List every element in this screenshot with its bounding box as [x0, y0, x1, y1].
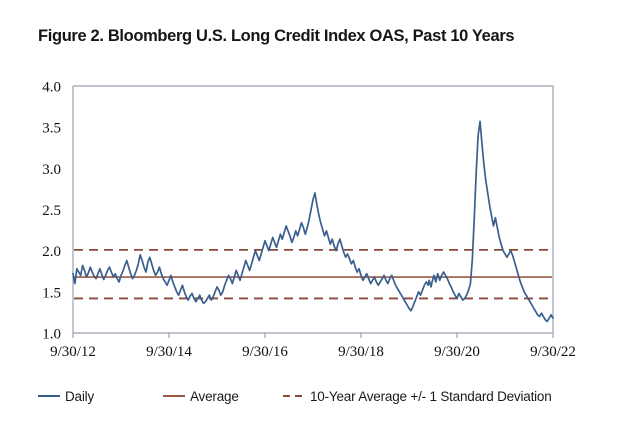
y-tick-label: 2.0: [42, 244, 61, 260]
x-tick-label: 9/30/20: [434, 344, 480, 360]
x-tick-label: 9/30/18: [338, 344, 384, 360]
x-tick-label: 9/30/22: [530, 344, 576, 360]
x-tick-label: 9/30/16: [242, 344, 288, 360]
data-series-daily: [73, 121, 553, 321]
legend-label-2: 10-Year Average +/- 1 Standard Deviation: [310, 389, 552, 404]
y-tick-label: 2.5: [42, 203, 61, 219]
y-axis-tick-labels: 1.01.52.02.53.03.54.0: [42, 80, 61, 343]
legend-label-0: Daily: [65, 389, 94, 404]
legend-svg: DailyAverage10-Year Average +/- 1 Standa…: [0, 382, 640, 410]
chart-legend: DailyAverage10-Year Average +/- 1 Standa…: [0, 382, 640, 410]
y-tick-label: 1.5: [42, 285, 61, 301]
x-axis-tick-labels: 9/30/129/30/149/30/169/30/189/30/209/30/…: [50, 344, 576, 360]
y-tick-label: 3.5: [42, 121, 61, 137]
legend-label-1: Average: [190, 389, 239, 404]
x-tick-label: 9/30/14: [146, 344, 192, 360]
x-tick-label: 9/30/12: [50, 344, 96, 360]
y-tick-label: 3.0: [42, 162, 61, 178]
plot-area: 1.01.52.02.53.03.54.0 9/30/129/30/149/30…: [0, 0, 640, 438]
y-tick-label: 4.0: [42, 80, 61, 96]
reference-lines: [74, 250, 552, 299]
chart-svg: 1.01.52.02.53.03.54.0 9/30/129/30/149/30…: [0, 0, 640, 438]
y-tick-label: 1.0: [42, 327, 61, 343]
daily-series-line: [73, 121, 553, 321]
figure-container: Figure 2. Bloomberg U.S. Long Credit Ind…: [0, 0, 640, 438]
